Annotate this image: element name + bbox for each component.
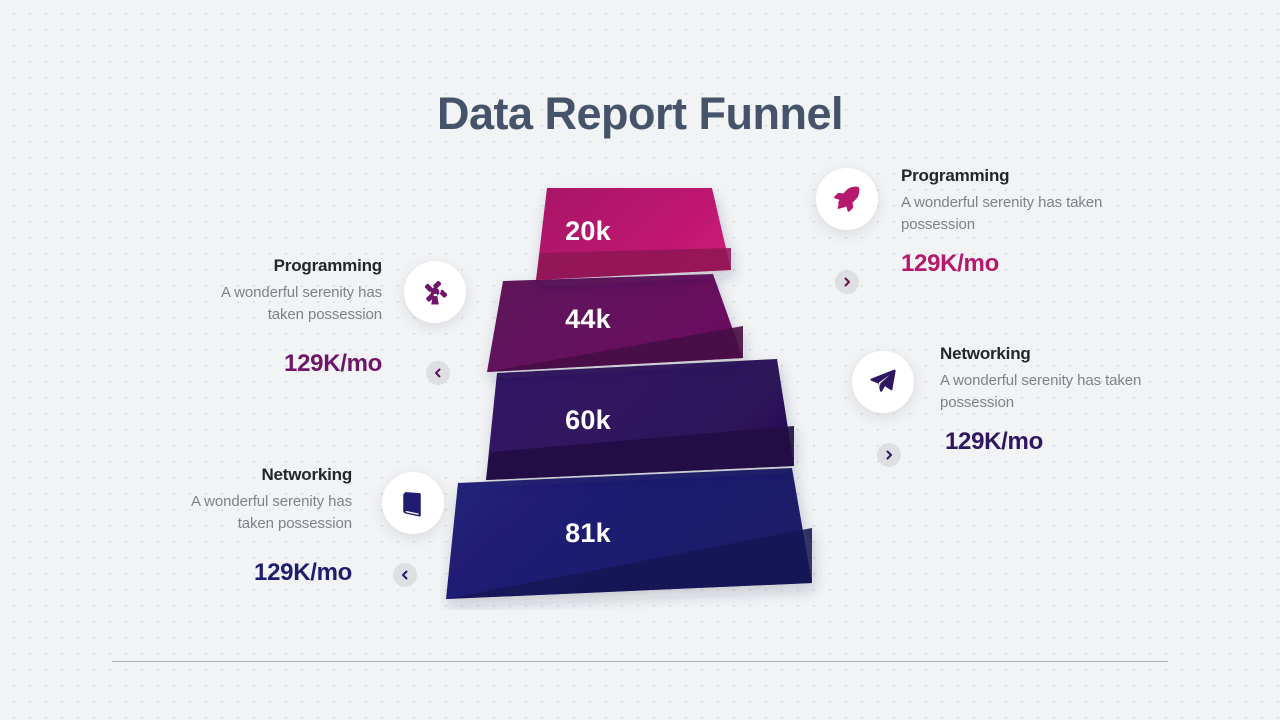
icon-bubble-networking-right[interactable] [852, 351, 914, 413]
info-title: Programming [90, 256, 382, 276]
chevron-left-icon [432, 367, 444, 379]
footer-divider [112, 661, 1168, 662]
page-title: Data Report Funnel [0, 88, 1280, 140]
info-description: A wonderful serenity has taken possessio… [901, 192, 1116, 236]
book-icon [398, 488, 428, 518]
info-block-programming-left: Programming A wonderful serenity has tak… [90, 256, 382, 378]
info-block-networking-left: Networking A wonderful serenity has take… [60, 465, 352, 587]
info-title: Networking [940, 344, 1230, 364]
info-title: Networking [60, 465, 352, 485]
info-metric: 129K/mo [945, 428, 1230, 456]
info-description: A wonderful serenity has taken possessio… [940, 370, 1158, 414]
funnel-segment-2 [487, 274, 743, 372]
chevron-left-button-programming[interactable] [426, 361, 450, 385]
chevron-right-button-networking[interactable] [877, 443, 901, 467]
windmill-icon [420, 277, 450, 307]
info-block-networking-right: Networking A wonderful serenity has take… [940, 344, 1230, 456]
funnel-segment-3 [486, 359, 794, 480]
chevron-right-icon [883, 449, 895, 461]
info-description: A wonderful serenity has taken possessio… [152, 491, 352, 535]
funnel-segment-1 [536, 188, 731, 280]
icon-bubble-programming-left[interactable] [404, 261, 466, 323]
info-block-programming-right: Programming A wonderful serenity has tak… [901, 166, 1191, 278]
info-metric: 129K/mo [60, 559, 352, 587]
info-title: Programming [901, 166, 1191, 186]
chevron-left-button-networking[interactable] [393, 563, 417, 587]
info-metric: 129K/mo [901, 250, 1191, 278]
chevron-left-icon [399, 569, 411, 581]
funnel-segment-4 [446, 468, 812, 599]
info-metric: 129K/mo [90, 350, 382, 378]
icon-bubble-programming-right[interactable] [816, 168, 878, 230]
rocket-icon [832, 184, 862, 214]
paper-plane-icon [868, 367, 898, 397]
chevron-right-icon [841, 276, 853, 288]
info-description: A wonderful serenity has taken possessio… [186, 282, 382, 326]
funnel-chart: 20k 44k 60k 81k [440, 180, 840, 610]
icon-bubble-networking-left[interactable] [382, 472, 444, 534]
chevron-right-button-programming[interactable] [835, 270, 859, 294]
